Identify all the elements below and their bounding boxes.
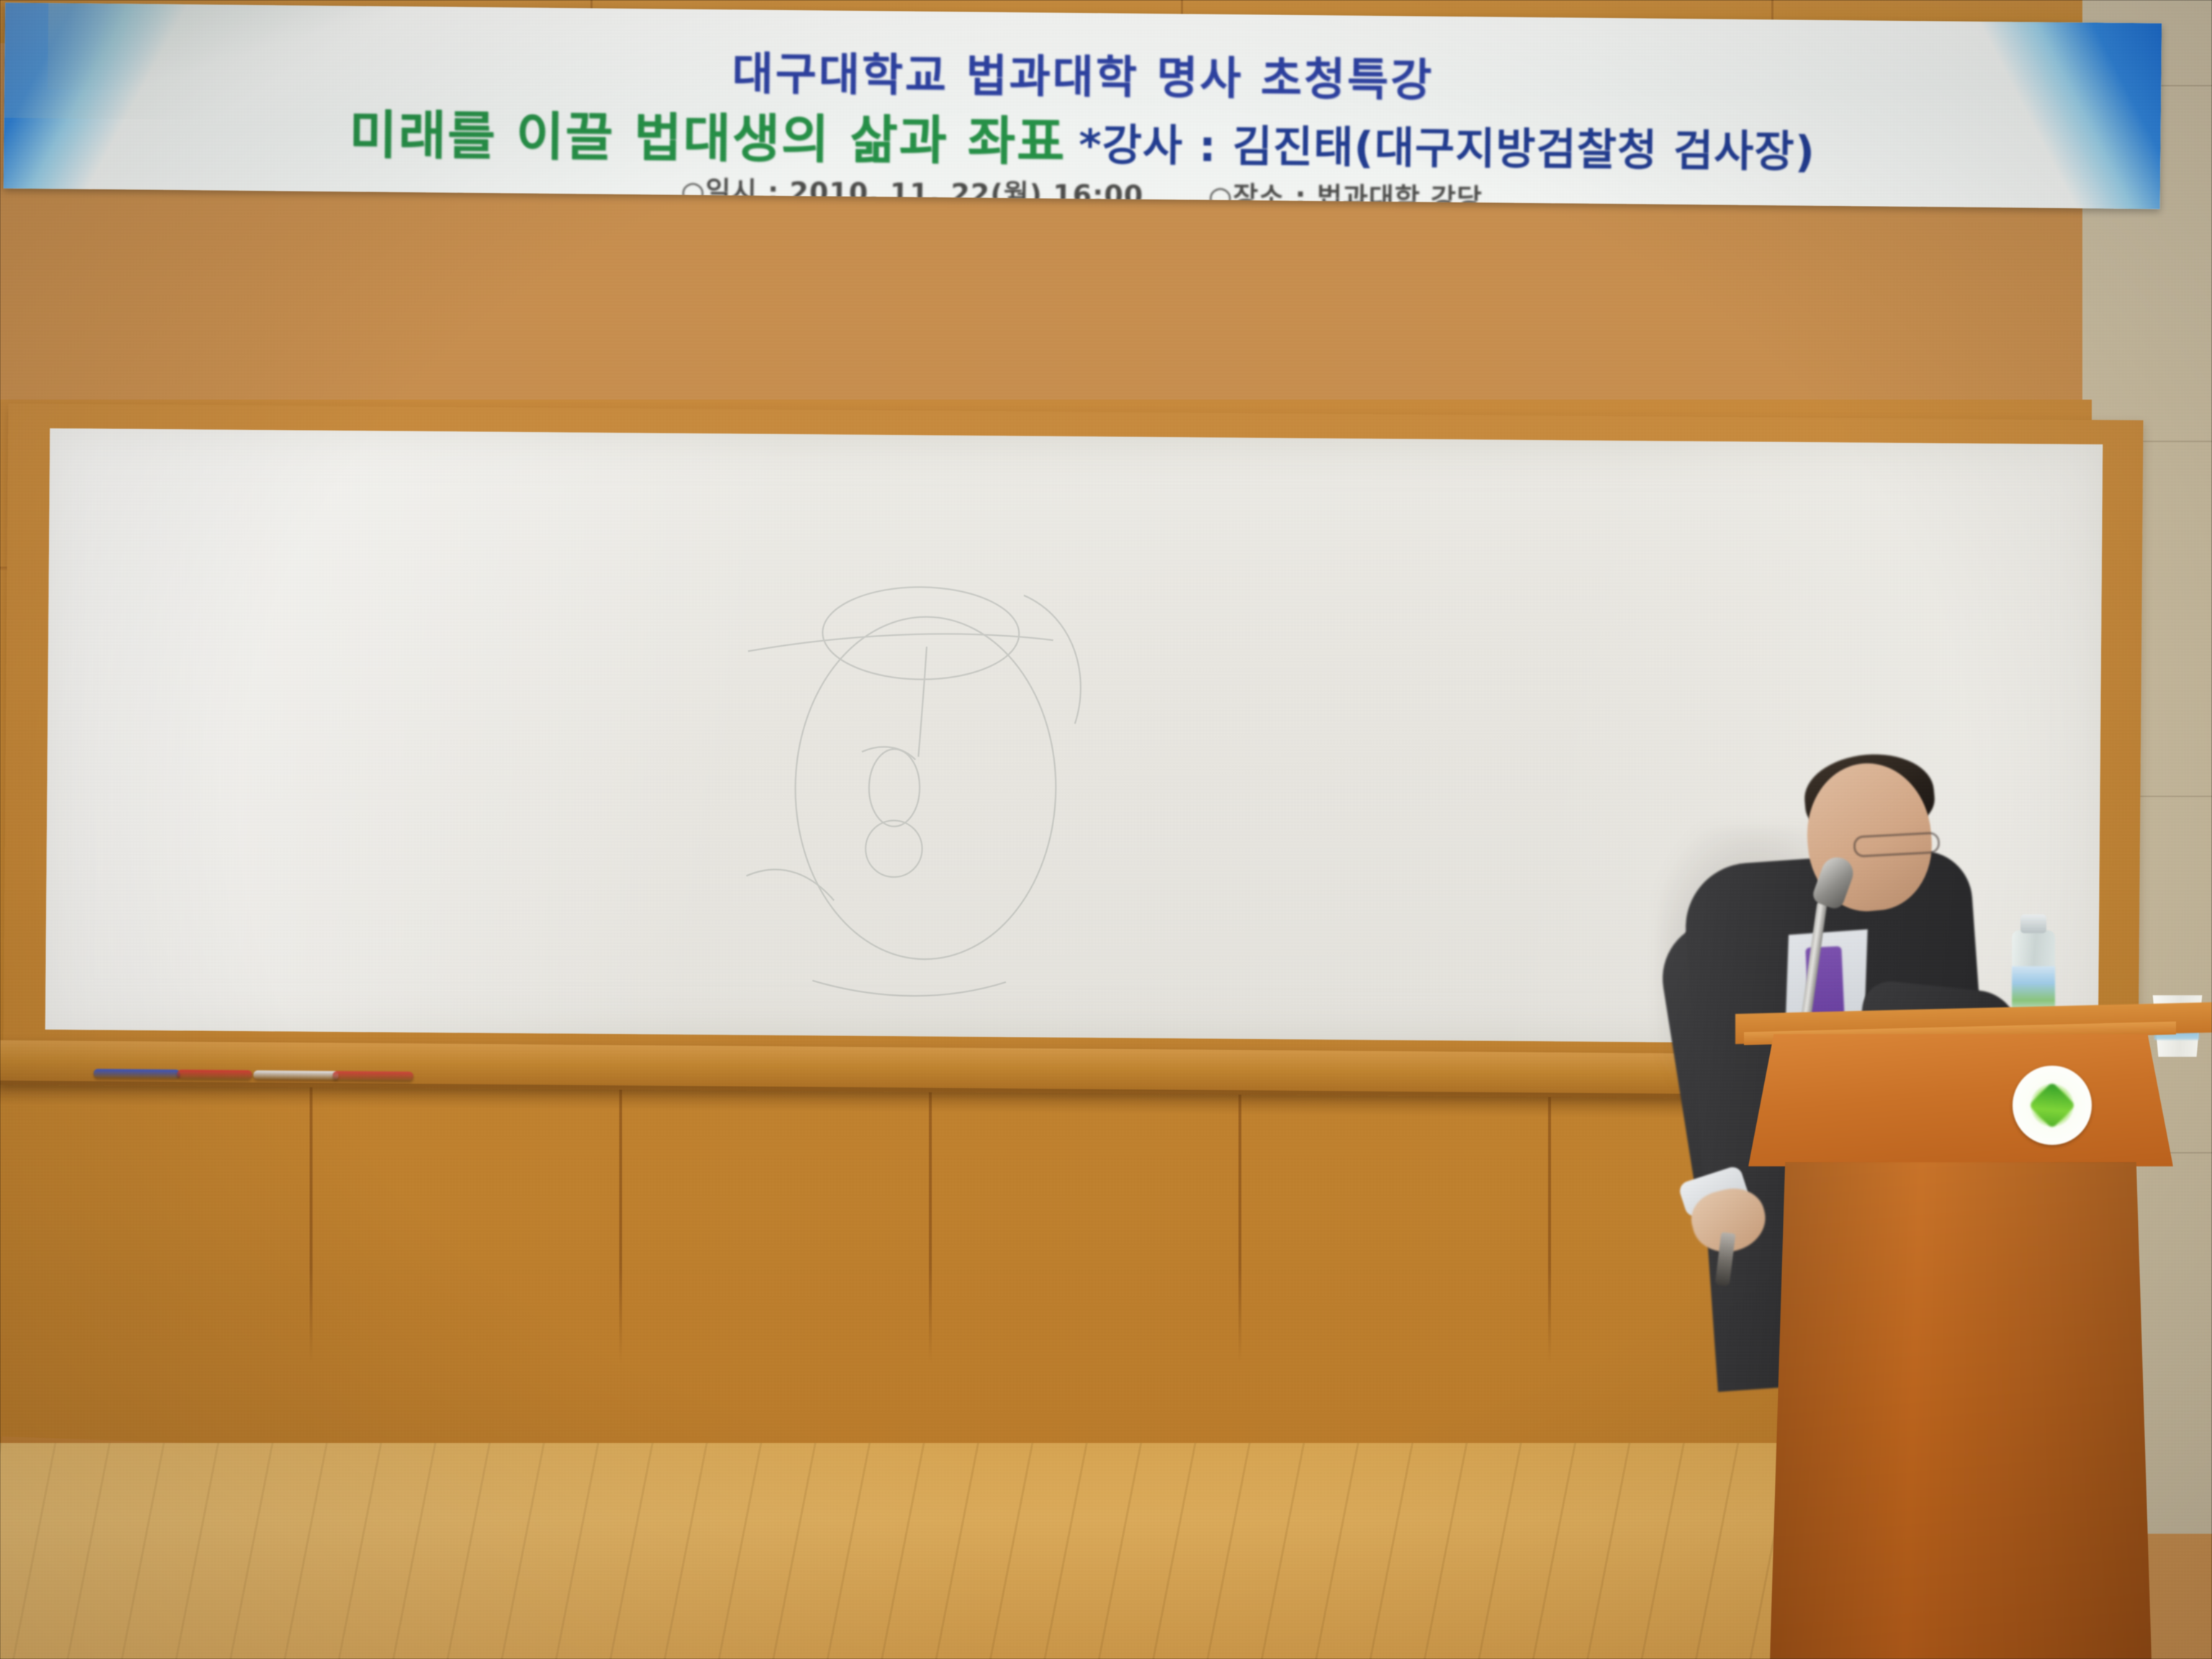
whiteboard-sketch-icon	[701, 563, 1151, 1013]
red-marker[interactable]	[177, 1070, 252, 1080]
wood-floor	[0, 1443, 1786, 1659]
lecture-hall-photo: 대구대학교 법과대학 명사 초청특강 미래를 이끌 법대생의 삶과 좌표 *강사…	[0, 0, 2212, 1659]
banner-speaker-line: *강사 : 김진태(대구지방검찰청 검사장)	[1079, 110, 1816, 180]
blue-marker[interactable]	[94, 1069, 180, 1079]
event-banner: 대구대학교 법과대학 명사 초청특강 미래를 이끌 법대생의 삶과 좌표 *강사…	[4, 3, 2162, 210]
red-marker-2[interactable]	[333, 1071, 413, 1081]
banner-location: ○장소 : 법과대학 강당	[1208, 181, 1483, 210]
banner-subtitle-green: 미래를 이끌 법대생의 삶과 좌표	[349, 92, 1066, 175]
lectern-podium	[1735, 1008, 2212, 1659]
podium-front-panel	[1748, 1034, 2173, 1166]
eyeglasses-icon	[1853, 832, 1940, 858]
banner-datetime: ○일시 : 2010. 11. 22(월) 16:00	[681, 176, 1144, 210]
blue-white-marker[interactable]	[253, 1070, 338, 1080]
university-emblem-icon	[2013, 1066, 2092, 1145]
